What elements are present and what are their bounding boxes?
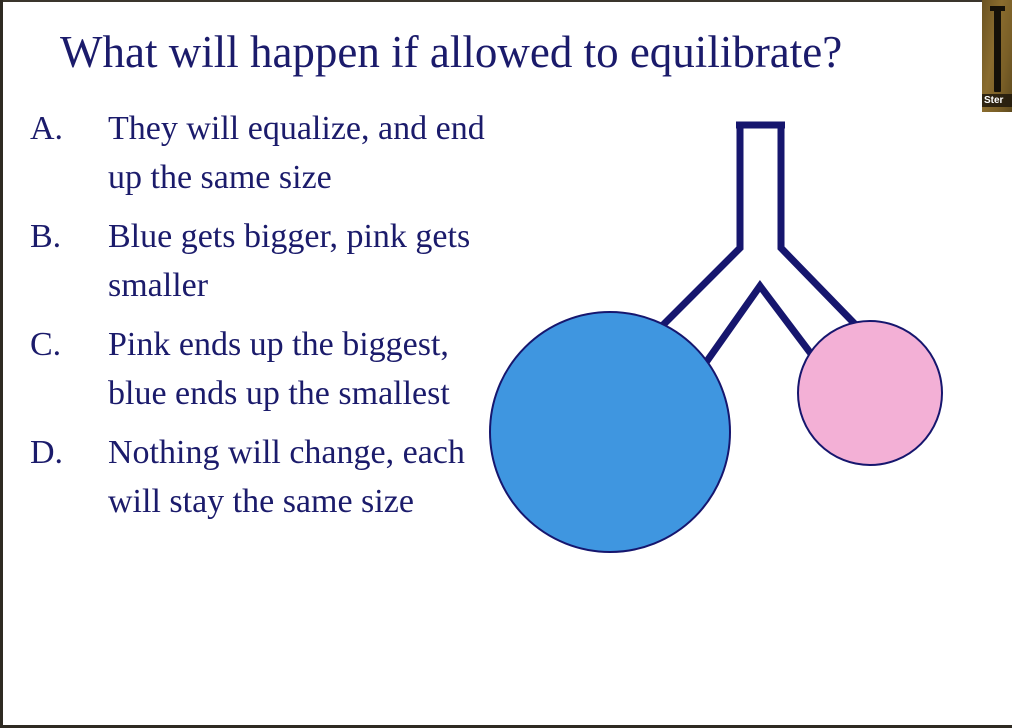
answer-text-b: Blue gets bigger, pink gets smaller	[108, 212, 500, 310]
slide-title: What will happen if allowed to equilibra…	[60, 22, 990, 82]
answer-options-list: A. They will equalize, and end up the sa…	[30, 104, 500, 536]
answer-option-c[interactable]: C. Pink ends up the biggest, blue ends u…	[30, 320, 500, 418]
blue-balloon[interactable]	[490, 312, 730, 552]
answer-option-a[interactable]: A. They will equalize, and end up the sa…	[30, 104, 500, 202]
answer-option-d[interactable]: D. Nothing will change, each will stay t…	[30, 428, 500, 526]
video-overlay-label: Ster	[982, 94, 1012, 107]
balloon-y-tube-diagram	[470, 105, 970, 575]
slide-top-border	[0, 0, 1012, 2]
video-overlay-thumbnail[interactable]: Ster	[982, 0, 1012, 112]
answer-letter-b: B.	[30, 212, 108, 261]
answer-letter-a: A.	[30, 104, 108, 153]
answer-text-c: Pink ends up the biggest, blue ends up t…	[108, 320, 500, 418]
answer-letter-d: D.	[30, 428, 108, 477]
diagram-canvas	[470, 105, 970, 575]
answer-option-b[interactable]: B. Blue gets bigger, pink gets smaller	[30, 212, 500, 310]
slide-left-border	[0, 0, 3, 728]
overlay-object-bar	[994, 6, 1001, 92]
pink-balloon[interactable]	[798, 321, 942, 465]
presentation-slide: What will happen if allowed to equilibra…	[0, 0, 1012, 728]
answer-letter-c: C.	[30, 320, 108, 369]
answer-text-a: They will equalize, and end up the same …	[108, 104, 500, 202]
answer-text-d: Nothing will change, each will stay the …	[108, 428, 500, 526]
